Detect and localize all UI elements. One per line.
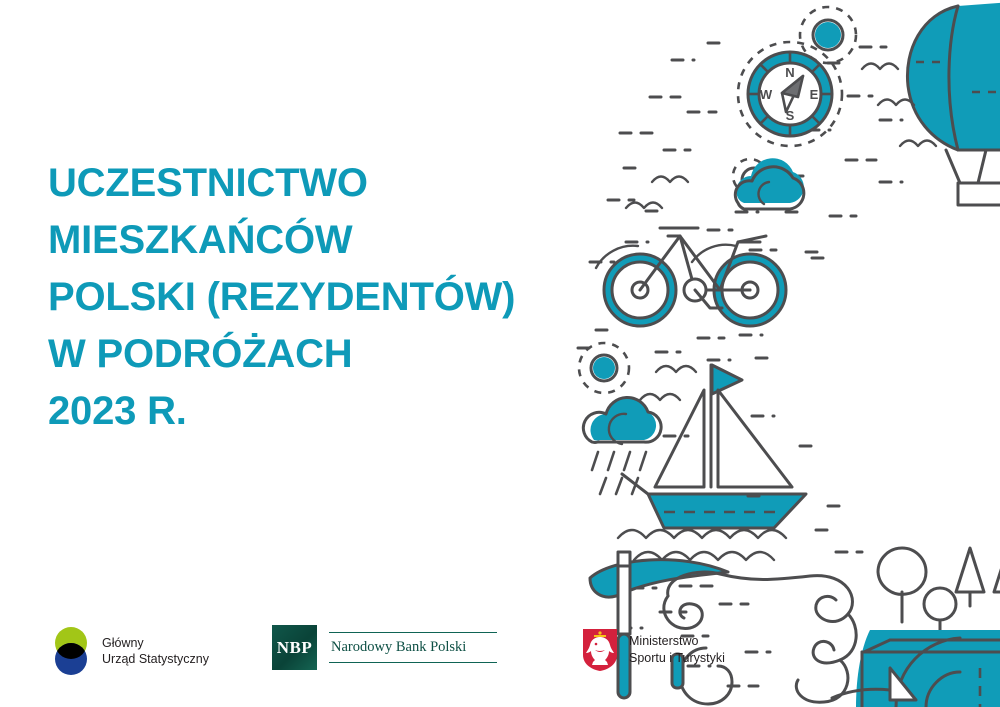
ministerstwo-sportu-i-turystyki-logo: Ministerstwo Sportu i Turystyki bbox=[581, 627, 725, 672]
pine-tree-icon bbox=[956, 548, 1000, 606]
compass-icon: N E S W bbox=[738, 42, 842, 146]
title-line-5: 2023 R. bbox=[48, 383, 608, 440]
gus-wordmark: Główny Urząd Statystyczny bbox=[102, 635, 209, 668]
narodowy-bank-polski-logo: NBP Narodowy Bank Polski bbox=[272, 625, 497, 670]
nbp-abbr: NBP bbox=[272, 625, 317, 670]
hot-air-balloon-icon bbox=[907, 2, 1000, 205]
slide-cover: UCZESTNICTWO MIESZKAŃCÓW POLSKI (REZYDEN… bbox=[0, 0, 1000, 707]
compass-label-n: N bbox=[785, 65, 794, 80]
mst-wordmark: Ministerstwo Sportu i Turystyki bbox=[629, 633, 725, 666]
nbp-wordmark: Narodowy Bank Polski bbox=[329, 625, 497, 670]
illustration-canvas: .ln { fill:none; stroke:#4d4d4f; stroke-… bbox=[560, 0, 1000, 707]
logo-bar: Główny Urząd Statystyczny NBP Narodowy B… bbox=[0, 620, 1000, 695]
compass-label-s: S bbox=[786, 108, 795, 123]
cloud-icon bbox=[733, 158, 804, 209]
polish-eagle-shield-icon bbox=[581, 627, 619, 672]
mst-line-1: Ministerstwo bbox=[629, 633, 725, 650]
sun-icon bbox=[579, 343, 629, 393]
title-line-4: W PODRÓŻACH bbox=[48, 326, 608, 383]
compass-label-w: W bbox=[760, 87, 773, 102]
mst-line-2: Sportu i Turystyki bbox=[629, 650, 725, 667]
rain-cloud-icon bbox=[583, 397, 661, 494]
gus-mark-icon bbox=[48, 627, 94, 675]
glowny-urzad-statystyczny-logo: Główny Urząd Statystyczny bbox=[48, 627, 209, 675]
title-line-3: POLSKI (REZYDENTÓW) bbox=[48, 269, 608, 326]
compass-label-e: E bbox=[810, 87, 819, 102]
page-title: UCZESTNICTWO MIESZKAŃCÓW POLSKI (REZYDEN… bbox=[48, 155, 608, 440]
gus-line-1: Główny bbox=[102, 635, 209, 652]
nbp-text: Narodowy Bank Polski bbox=[329, 633, 497, 662]
title-line-2: MIESZKAŃCÓW bbox=[48, 212, 608, 269]
title-line-1: UCZESTNICTWO bbox=[48, 155, 608, 212]
bicycle-icon bbox=[596, 228, 786, 326]
travel-illustration: .ln { fill:none; stroke:#4d4d4f; stroke-… bbox=[560, 0, 1000, 707]
nbp-rule-bottom bbox=[329, 662, 497, 663]
bird-icon bbox=[640, 366, 696, 400]
gus-line-2: Urząd Statystyczny bbox=[102, 651, 209, 668]
